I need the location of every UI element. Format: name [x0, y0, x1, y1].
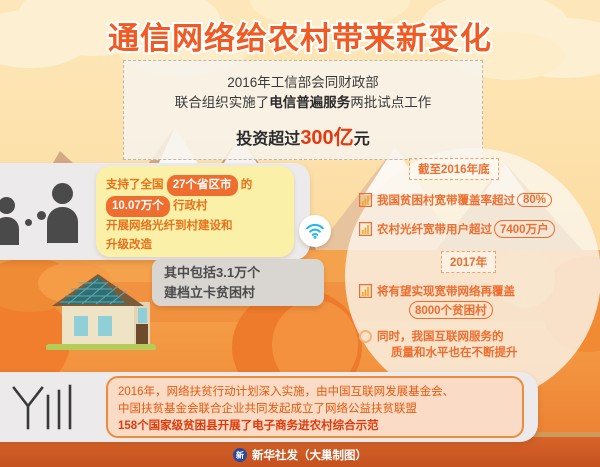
left-line1-pill: 27个省区市 — [167, 175, 238, 196]
left-info-card: 支持了全国 27个省区市 的 10.07万个 行政村 开展网络光纤到村建设和 升… — [0, 163, 310, 260]
xinhua-logo-icon: 新 — [233, 448, 247, 462]
page-title-text: 通信网络给农村带来新变化 — [108, 21, 492, 56]
note-line1: 同时，我国互联网服务的 — [377, 328, 518, 344]
grey-card-line2: 建档立卡贫困村 — [164, 283, 324, 303]
headline-invest-post: 元 — [354, 131, 370, 148]
left-line2-post: 行政村 — [173, 200, 208, 212]
left-line-4: 升级改造 — [106, 236, 294, 255]
bottom-line-3: 158个国家级贫困县开展了电子商务进农村综合示范 — [118, 418, 512, 435]
stat-row-users: 农村光纤宽带用户超过 7400万户 — [359, 220, 555, 238]
headline-invest-amount: 300亿 — [300, 127, 353, 149]
right-circle-content: 截至2016年底 我国贫困村宽带覆盖率超过 80% 农村光纤宽带用户超过 740… — [345, 148, 600, 363]
headline-box: 2016年工信部会同财政部 联合组织实施了电信普遍服务两批试点工作 投资超过30… — [123, 60, 483, 160]
house-illustration — [40, 258, 160, 350]
note-text: 同时，我国互联网服务的 质量和水平也在不断提升 — [377, 328, 518, 360]
bar-chart-icon — [359, 284, 372, 298]
left-line-3: 开展网络光纤到村建设和 — [106, 217, 294, 236]
left-line-2: 10.07万个 行政村 — [106, 196, 294, 217]
note-row: 同时，我国互联网服务的 质量和水平也在不断提升 — [359, 328, 518, 360]
left-line2-pill: 10.07万个 — [106, 196, 170, 217]
left-line1-post: 的 — [241, 179, 253, 191]
stat-coverage-text: 我国贫困村宽带覆盖率超过 — [377, 192, 515, 208]
date-badge-2016: 截至2016年底 — [409, 158, 499, 180]
bottom-info-card: 2016年，网络扶贫行动计划深入实施，由中国互联网发展基金会、 中国扶贫基金会联… — [0, 372, 538, 442]
date-badge-2017: 2017年 — [441, 251, 496, 273]
stat-users-value: 7400万户 — [494, 220, 555, 238]
stat-coverage-value: 80% — [517, 193, 552, 207]
grey-info-card: 其中包括3.1万个 建档立卡贫困村 — [152, 259, 324, 306]
left-line-1: 支持了全国 27个省区市 的 — [106, 175, 294, 196]
headline-invest-pre: 投资超过 — [236, 131, 300, 148]
bottom-highlight-box: 2016年，网络扶贫行动计划深入实施，由中国互联网发展基金会、 中国扶贫基金会联… — [106, 376, 524, 438]
bar-chart-icon — [359, 222, 372, 236]
headline-line2-pre: 联合组织实施了 — [175, 95, 270, 110]
bottom-line-1: 2016年，网络扶贫行动计划深入实施，由中国互联网发展基金会、 — [118, 384, 512, 401]
bar-chart-icon — [359, 193, 372, 207]
stat-2017-value-wrap: 8000个贫困村 — [407, 301, 493, 319]
headline-line2: 联合组织实施了电信普遍服务两批试点工作 — [124, 93, 482, 113]
note-line2: 质量和水平也在不断提升 — [391, 344, 518, 360]
bottom-line-2: 中国扶贫基金会联合企业共同发起成立了网络公益扶贫联盟 — [118, 401, 512, 418]
headline-line3: 投资超过300亿元 — [124, 121, 482, 150]
signal-antenna-icon — [8, 382, 80, 432]
stat-2017-text: 将有望实现宽带网络再覆盖 — [377, 283, 515, 299]
footer-text: 新华社发（大巢制图） — [252, 447, 367, 463]
headline-line1: 2016年工信部会同财政部 — [124, 73, 482, 93]
footer-credit: 新 新华社发（大巢制图） — [0, 447, 600, 463]
grey-card-line1: 其中包括3.1万个 — [164, 263, 324, 283]
circle-bullet-icon — [359, 330, 372, 343]
stat-users-text: 农村光纤宽带用户超过 — [377, 221, 492, 237]
two-people-icon — [0, 175, 100, 247]
page-title: 通信网络给农村带来新变化 — [0, 13, 600, 58]
infographic-canvas: 通信网络给农村带来新变化 2016年工信部会同财政部 联合组织实施了电信普遍服务… — [0, 0, 600, 467]
headline-line2-bold: 电信普遍服务 — [269, 95, 350, 110]
headline-line2-post: 两批试点工作 — [350, 95, 431, 110]
left-highlight-box: 支持了全国 27个省区市 的 10.07万个 行政村 开展网络光纤到村建设和 升… — [96, 166, 294, 257]
wifi-icon — [299, 215, 331, 247]
stat-2017-value: 8000个贫困村 — [409, 301, 493, 319]
stat-row-2017: 将有望实现宽带网络再覆盖 — [359, 283, 515, 299]
stat-row-coverage: 我国贫困村宽带覆盖率超过 80% — [359, 192, 552, 208]
left-line1-pre: 支持了全国 — [106, 179, 164, 191]
